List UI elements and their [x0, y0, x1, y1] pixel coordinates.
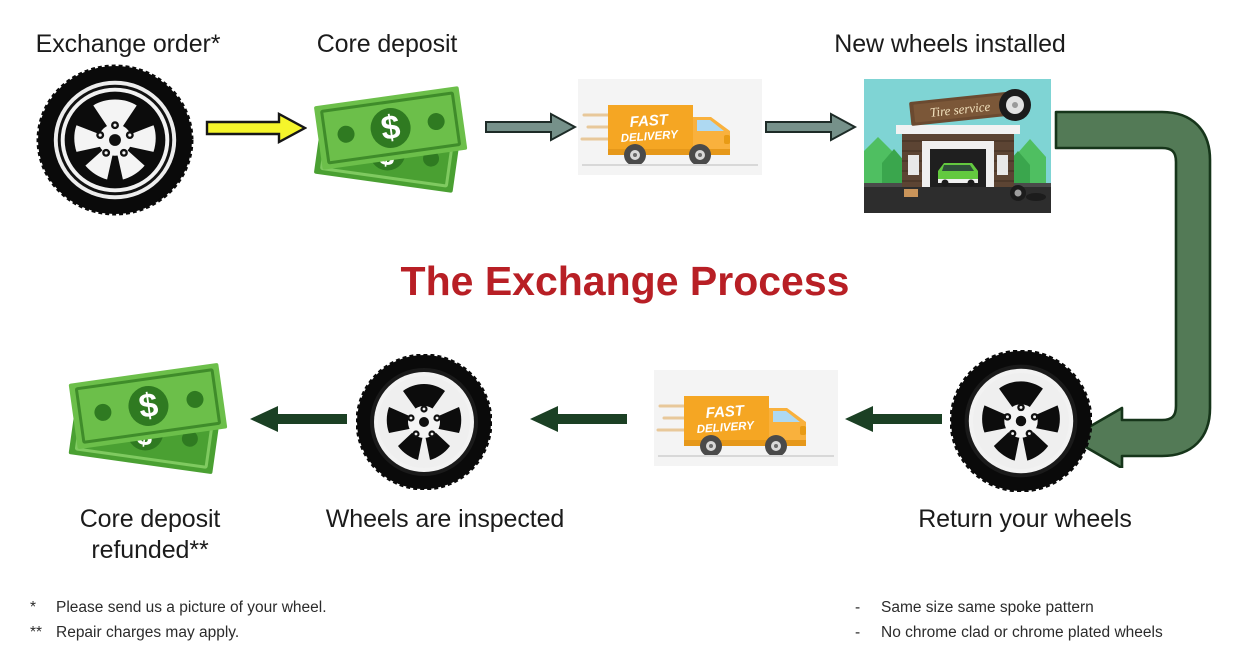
label-core-deposit: Core deposit: [272, 29, 502, 60]
label-wheels-are-inspected: Wheels are inspected: [295, 504, 595, 535]
footnote-left-1-text: Please send us a picture of your wheel.: [56, 599, 327, 616]
footnotes-left: *Please send us a picture of your wheel.…: [30, 595, 450, 645]
footnote-left-2-marker: **: [30, 620, 56, 645]
truck-text-fast: FAST: [629, 111, 670, 131]
delivery-truck-icon-bottom: FAST DELIVERY: [654, 370, 838, 466]
arrow-darkgreen-left-3: [843, 404, 943, 434]
footnote-right-1-text: Same size same spoke pattern: [881, 599, 1094, 616]
arrow-darkgreen-left-2: [528, 404, 628, 434]
footnote-right-2-text: No chrome clad or chrome plated wheels: [881, 624, 1163, 641]
page-title: The Exchange Process: [0, 258, 1250, 305]
footnote-right-2: -No chrome clad or chrome plated wheels: [855, 620, 1250, 645]
exchange-process-diagram: Exchange order* Core deposit New wheels …: [0, 0, 1250, 666]
arrow-yellow-right: [205, 112, 307, 144]
footnote-left-1: *Please send us a picture of your wheel.: [30, 595, 450, 620]
label-new-wheels-installed: New wheels installed: [785, 29, 1115, 60]
footnote-left-2: **Repair charges may apply.: [30, 620, 450, 645]
money-bills-icon-top: $ $: [305, 78, 477, 202]
label-return-your-wheels: Return your wheels: [885, 504, 1165, 535]
footnotes-right: -Same size same spoke pattern -No chrome…: [855, 595, 1250, 645]
footnote-left-2-text: Repair charges may apply.: [56, 624, 239, 641]
wheel-silver-icon-inspected: [356, 354, 492, 490]
arrow-darkgreen-left-1: [248, 404, 348, 434]
wheel-silver-icon-return: [950, 350, 1092, 492]
label-exchange-order: Exchange order*: [0, 29, 256, 60]
delivery-truck-icon-top: FAST DELIVERY: [578, 79, 762, 175]
money-bills-icon-bottom: $ $: [60, 355, 238, 483]
arrow-teal-right-2: [765, 112, 857, 142]
label-core-deposit-refunded: Core deposit refunded**: [30, 504, 270, 566]
truck-text-fast: FAST: [705, 402, 746, 422]
footnote-right-1-marker: -: [855, 595, 881, 620]
footnote-left-1-marker: *: [30, 595, 56, 620]
footnote-right-1: -Same size same spoke pattern: [855, 595, 1250, 620]
tire-service-shop-icon: Tire service: [864, 79, 1051, 213]
footnote-right-2-marker: -: [855, 620, 881, 645]
wheel-black-icon: [36, 64, 194, 216]
arrow-teal-right-1: [485, 112, 577, 142]
